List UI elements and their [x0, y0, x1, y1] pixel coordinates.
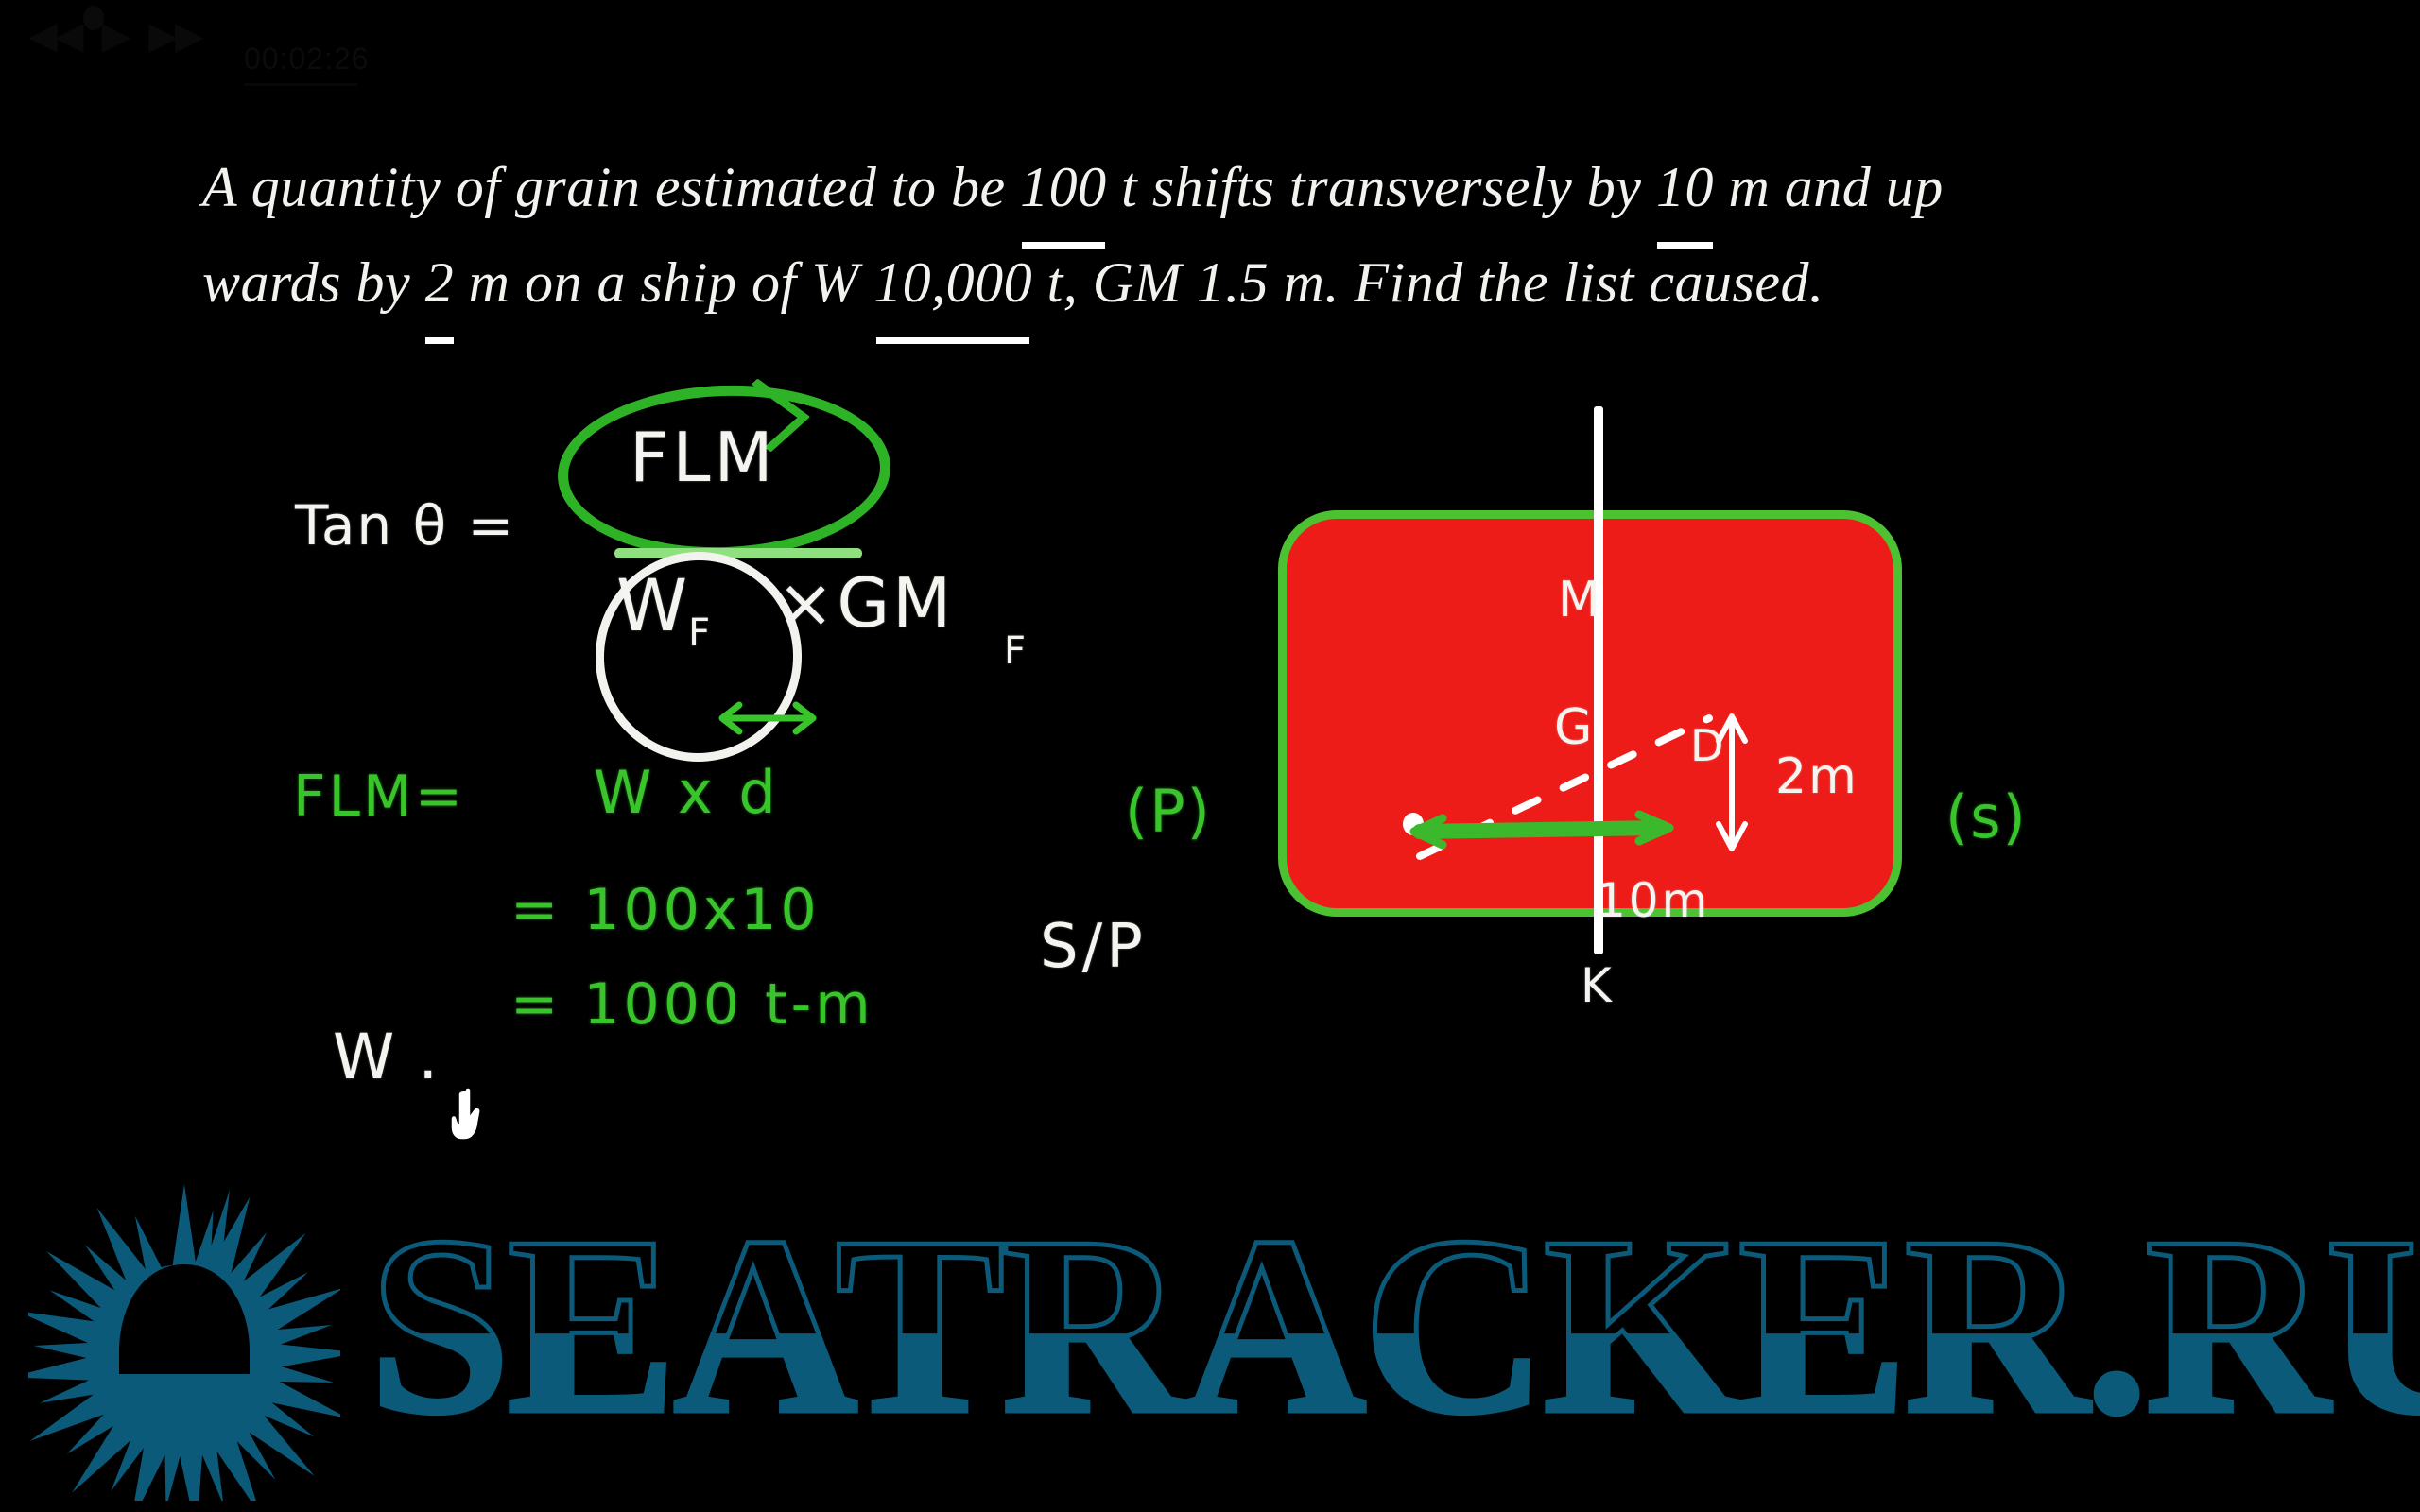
- tan-theta-label: Tan θ =: [295, 493, 515, 558]
- keel-label-k: K: [1581, 958, 1612, 1013]
- formula-times-gm: ×GM: [777, 563, 954, 643]
- player-indicator-dot: [83, 6, 104, 30]
- port-side-label: (P): [1125, 777, 1212, 846]
- formula-denominator-w: WF: [616, 563, 711, 655]
- flm-result: = 1000 t-m: [510, 971, 874, 1038]
- seatracker-watermark: SEATRACKER.RU SEATRACKER.RU: [0, 1170, 2420, 1512]
- statement-text: m on a ship of W: [454, 251, 873, 314]
- play-icon[interactable]: ▶: [102, 17, 129, 55]
- rewind-icon[interactable]: ◀◀: [28, 17, 81, 55]
- statement-text: wards by: [202, 251, 425, 314]
- underlined-value-10000t: 10,000: [873, 237, 1032, 329]
- video-player-controls[interactable]: ◀◀ ▶ ▶▶: [28, 17, 201, 55]
- underlined-value-2m: 2: [425, 237, 455, 329]
- statement-text: t shifts transversely by: [1107, 156, 1656, 218]
- statement-text: t, GM 1.5 m. Find the list caused.: [1032, 251, 1824, 314]
- horizontal-distance-label: 10m: [1596, 873, 1710, 928]
- flm-substitution: = 100x10: [510, 877, 821, 943]
- double-arrow-annotation-icon: [711, 699, 824, 741]
- sunburst-logo-icon: [28, 1179, 340, 1501]
- w-subscript: F: [688, 611, 711, 655]
- ship-centerline: [1594, 406, 1603, 954]
- w-partial-writing: W .: [333, 1021, 440, 1093]
- statement-line-1: A quantity of grain estimated to be 100 …: [202, 142, 2282, 233]
- flm-expression: W x d: [594, 758, 780, 827]
- starboard-port-label: S/P: [1040, 912, 1147, 982]
- statement-text: A quantity of grain estimated to be: [202, 156, 1020, 218]
- statement-text: m and up: [1714, 156, 1944, 218]
- transverse-shift-arrow-icon: [1399, 807, 1683, 852]
- fraction-bar: [614, 548, 862, 558]
- underlined-value-10m: 10: [1656, 142, 1714, 233]
- slide-canvas: ◀◀ ▶ ▶▶ 00:02:26 A quantity of grain est…: [0, 0, 2420, 1512]
- metacentre-label-m: M: [1558, 572, 1600, 628]
- pointing-hand-cursor: [446, 1085, 493, 1143]
- statement-line-2: wards by 2 m on a ship of W 10,000 t, GM…: [202, 237, 2282, 329]
- w-letter: W: [616, 563, 688, 647]
- gm-subscript: F: [1004, 629, 1026, 673]
- shifted-position-label-d: D: [1690, 720, 1723, 771]
- problem-statement: A quantity of grain estimated to be 100 …: [202, 142, 2282, 329]
- formula-numerator-flm: FLM: [630, 418, 777, 497]
- player-timestamp: 00:02:26: [244, 42, 370, 77]
- flm-label: FLM=: [293, 764, 465, 830]
- starboard-side-label: (s): [1945, 782, 2028, 851]
- player-progress-underline[interactable]: [244, 83, 357, 86]
- vertical-distance-label: 2m: [1775, 748, 1858, 805]
- underlined-value-100t: 100: [1020, 142, 1107, 233]
- centre-of-gravity-label-g: G: [1554, 699, 1592, 756]
- ship-cross-section-diagram: M G D K 2m 10m: [1219, 397, 2117, 1021]
- tan-theta-formula: Tan θ = FLM WF ×GM F: [284, 378, 1002, 661]
- fast-forward-icon[interactable]: ▶▶: [148, 17, 201, 55]
